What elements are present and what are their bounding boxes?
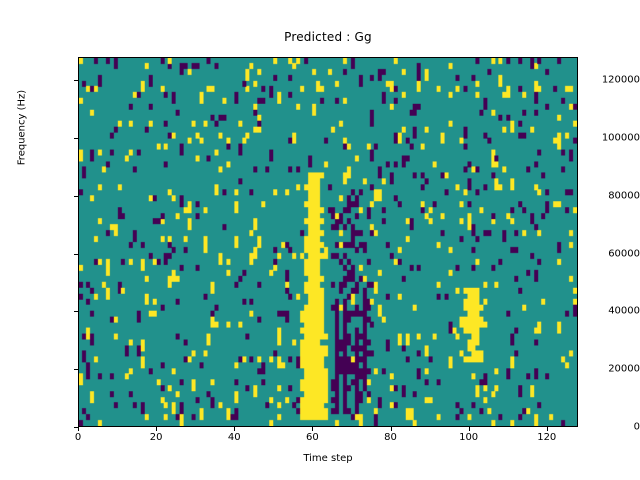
matplotlib-figure: Predicted : Gg 0200004000060000800001000… <box>0 0 640 480</box>
y-axis-label: Frequency (Hz) <box>17 58 28 198</box>
y-tick-label: 60000 <box>574 248 640 259</box>
x-tick-mark <box>78 427 79 431</box>
x-tick-mark <box>469 427 470 431</box>
x-tick-label: 20 <box>126 432 186 443</box>
x-tick-mark <box>391 427 392 431</box>
y-tick-mark <box>74 311 78 312</box>
x-tick-mark <box>547 427 548 431</box>
y-tick-mark <box>74 138 78 139</box>
x-tick-label: 40 <box>204 432 264 443</box>
x-tick-label: 60 <box>282 432 342 443</box>
x-tick-label: 80 <box>361 432 421 443</box>
y-tick-mark <box>74 80 78 81</box>
y-tick-label: 80000 <box>574 190 640 201</box>
x-tick-mark <box>312 427 313 431</box>
x-tick-mark <box>234 427 235 431</box>
y-tick-label: 100000 <box>574 132 640 143</box>
spectrogram-axes[interactable] <box>78 57 578 427</box>
y-tick-mark <box>74 254 78 255</box>
y-tick-label: 0 <box>574 422 640 433</box>
y-tick-label: 40000 <box>574 306 640 317</box>
x-axis-label: Time step <box>78 453 578 464</box>
y-tick-mark <box>74 427 78 428</box>
y-tick-label: 120000 <box>574 75 640 86</box>
x-tick-label: 120 <box>517 432 577 443</box>
x-tick-label: 100 <box>439 432 499 443</box>
x-tick-mark <box>156 427 157 431</box>
heatmap-canvas[interactable] <box>79 58 577 426</box>
x-tick-label: 0 <box>48 432 108 443</box>
y-tick-mark <box>74 196 78 197</box>
chart-title: Predicted : Gg <box>78 30 578 44</box>
y-tick-label: 20000 <box>574 364 640 375</box>
y-tick-mark <box>74 369 78 370</box>
